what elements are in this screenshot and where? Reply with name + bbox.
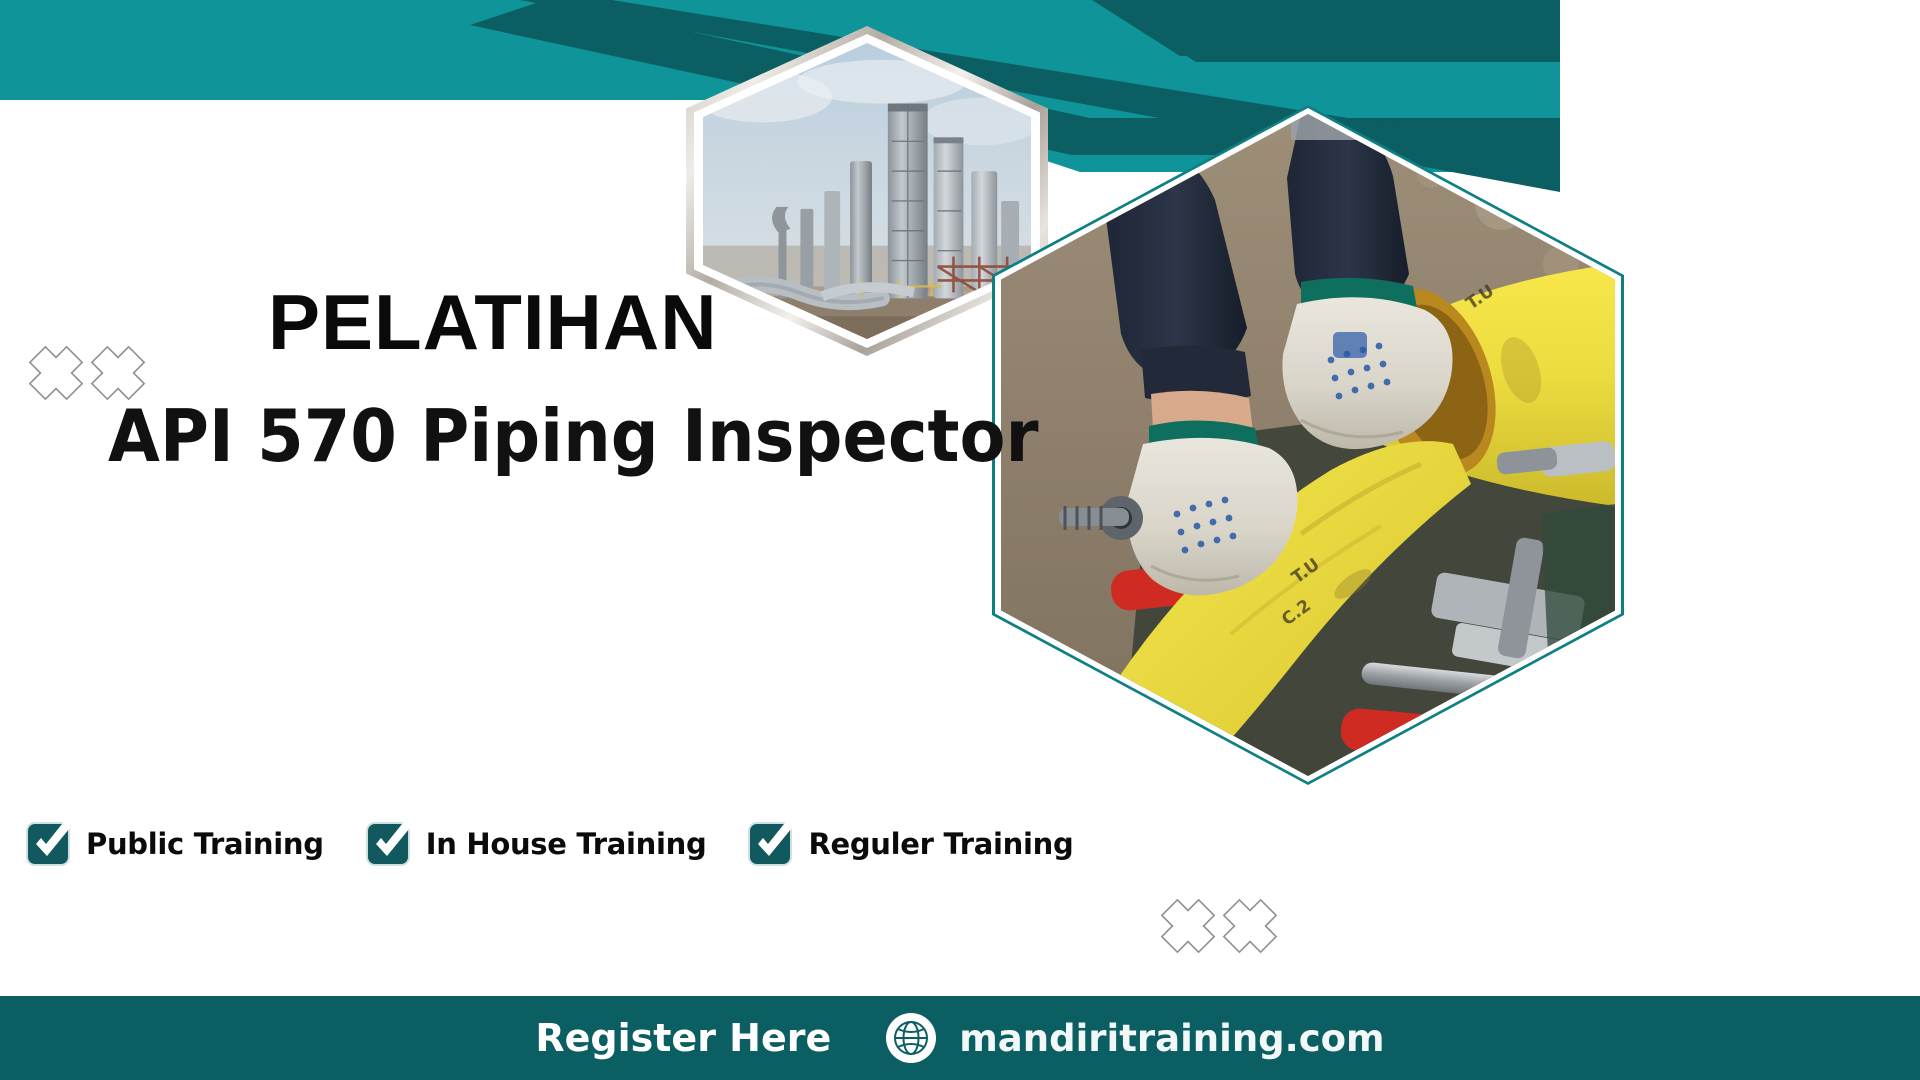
website-group[interactable]: mandiritraining.com: [885, 1012, 1384, 1064]
banner-canvas: T.U C.2 T.U: [0, 0, 1920, 1080]
cross-icon: [90, 345, 146, 401]
register-here-label[interactable]: Register Here: [535, 1016, 831, 1060]
training-option-in-house[interactable]: In House Training: [364, 820, 707, 868]
page-eyebrow: PELATIHAN: [268, 283, 718, 361]
globe-icon: [885, 1012, 937, 1064]
training-option-label: Public Training: [86, 827, 324, 861]
pipe-inspection-photo: T.U C.2 T.U: [1001, 114, 1615, 776]
page-title: API 570 Piping Inspector: [108, 400, 1039, 472]
footer-bar: Register Here mandiritraining.com: [0, 996, 1920, 1080]
training-option-public[interactable]: Public Training: [24, 820, 324, 868]
checkbox-checked-icon[interactable]: [364, 820, 412, 868]
training-options-list: Public Training In House Training Regule…: [24, 820, 1113, 868]
cross-marks-left: [28, 345, 146, 401]
website-url[interactable]: mandiritraining.com: [959, 1017, 1384, 1060]
cross-icon: [28, 345, 84, 401]
training-option-label: In House Training: [426, 827, 707, 861]
pipe-inspection-hexagon-frame: T.U C.2 T.U: [992, 105, 1624, 785]
training-option-reguler[interactable]: Reguler Training: [746, 820, 1073, 868]
cross-marks-bottom: [1160, 898, 1278, 954]
cross-icon: [1160, 898, 1216, 954]
checkbox-checked-icon[interactable]: [746, 820, 794, 868]
cross-icon: [1222, 898, 1278, 954]
training-option-label: Reguler Training: [808, 827, 1073, 861]
checkbox-checked-icon[interactable]: [24, 820, 72, 868]
